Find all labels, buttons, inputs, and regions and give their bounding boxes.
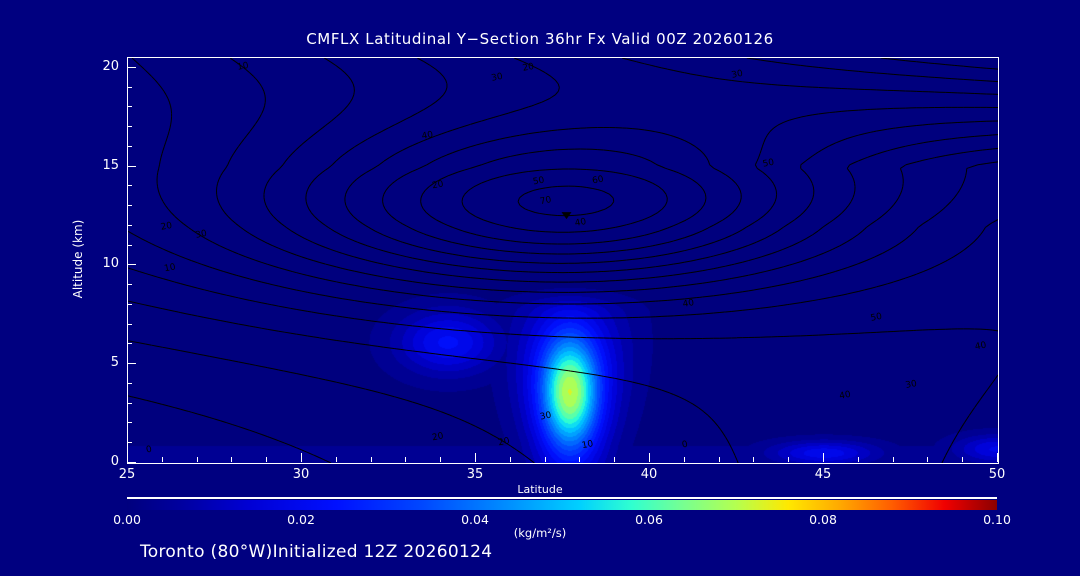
x-tick-label: 40 (619, 467, 679, 482)
y-tick-mark (127, 245, 132, 246)
x-tick-mark (266, 457, 267, 462)
colorbar-top-rule (127, 497, 997, 499)
colorbar-tick-label: 0.08 (788, 512, 858, 527)
y-tick-mark (127, 264, 136, 265)
x-tick-mark (162, 457, 163, 462)
x-tick-mark (231, 457, 232, 462)
y-tick-mark (127, 225, 132, 226)
y-tick-label: 15 (79, 158, 119, 173)
colorbar-tick-label: 0.02 (266, 512, 336, 527)
y-tick-mark (127, 403, 132, 404)
x-tick-mark (405, 457, 406, 462)
x-tick-mark (475, 453, 476, 462)
x-tick-mark (997, 453, 998, 462)
x-tick-mark (893, 457, 894, 462)
x-tick-label: 25 (97, 467, 157, 482)
y-tick-label: 10 (79, 256, 119, 271)
colorbar-unit-label: (kg/m²/s) (0, 526, 1080, 540)
y-tick-mark (127, 442, 132, 443)
station-init-label: Toronto (80°W)Initialized 12Z 20260124 (140, 542, 492, 562)
y-tick-label: 20 (79, 59, 119, 74)
y-tick-mark (127, 422, 132, 423)
y-tick-mark (127, 343, 132, 344)
x-tick-mark (336, 457, 337, 462)
x-tick-label: 30 (271, 467, 331, 482)
y-tick-mark (127, 383, 132, 384)
colorbar-gradient (127, 500, 997, 510)
x-tick-mark (371, 457, 372, 462)
y-tick-mark (127, 462, 136, 463)
x-tick-mark (858, 457, 859, 462)
colorbar-tick-label: 0.04 (440, 512, 510, 527)
x-tick-mark (301, 453, 302, 462)
x-tick-mark (719, 457, 720, 462)
x-axis-title: Latitude (0, 483, 1080, 496)
y-tick-mark (127, 126, 132, 127)
y-tick-mark (127, 185, 132, 186)
x-tick-mark (127, 453, 128, 462)
colorbar-tick-label: 0.10 (962, 512, 1032, 527)
x-tick-mark (649, 453, 650, 462)
x-tick-mark (823, 453, 824, 462)
colorbar (127, 497, 997, 510)
x-tick-mark (510, 457, 511, 462)
x-tick-mark (684, 457, 685, 462)
x-tick-mark (579, 457, 580, 462)
y-tick-label: 5 (79, 355, 119, 370)
x-tick-mark (440, 457, 441, 462)
y-tick-mark (127, 363, 136, 364)
x-tick-mark (788, 457, 789, 462)
x-tick-mark (614, 457, 615, 462)
shaded-field-canvas (128, 58, 998, 463)
y-tick-mark (127, 67, 136, 68)
cross-section-plot: 0010101020202020203030303030404040404050… (127, 57, 999, 464)
y-tick-mark (127, 205, 132, 206)
y-tick-mark (127, 146, 132, 147)
page-title: CMFLX Latitudinal Y−Section 36hr Fx Vali… (0, 30, 1080, 48)
x-tick-mark (197, 457, 198, 462)
y-tick-mark (127, 87, 132, 88)
colorbar-tick-label: 0.00 (92, 512, 162, 527)
x-tick-mark (753, 457, 754, 462)
y-tick-mark (127, 284, 132, 285)
x-tick-label: 45 (793, 467, 853, 482)
x-tick-mark (545, 457, 546, 462)
y-tick-mark (127, 304, 132, 305)
colorbar-tick-label: 0.06 (614, 512, 684, 527)
y-tick-mark (127, 324, 132, 325)
y-tick-mark (127, 106, 132, 107)
x-tick-label: 35 (445, 467, 505, 482)
x-tick-label: 50 (967, 467, 1027, 482)
y-tick-mark (127, 166, 136, 167)
x-tick-mark (962, 457, 963, 462)
x-tick-mark (927, 457, 928, 462)
